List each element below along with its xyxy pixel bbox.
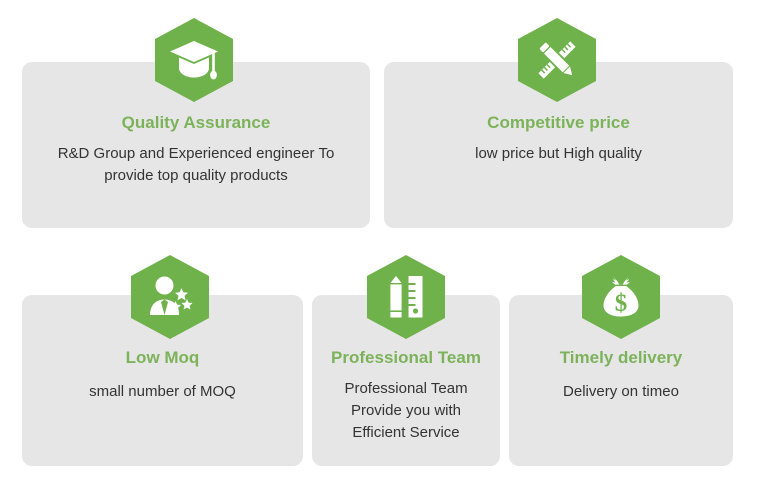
card-title: Professional Team	[312, 348, 500, 368]
graduation-cap-icon	[169, 37, 219, 83]
card-description: small number of MOQ	[22, 381, 303, 403]
card-title: Low Moq	[22, 348, 303, 368]
card-title: Quality Assurance	[22, 113, 370, 133]
pencil-ruler-icon	[385, 274, 427, 320]
card-description: R&D Group and Experienced engineer To pr…	[22, 143, 370, 187]
pencil-ruler-crossed-icon	[533, 36, 581, 84]
person-stars-icon	[146, 275, 194, 319]
svg-text:$: $	[615, 290, 628, 317]
card-description: Delivery on timeo	[509, 381, 733, 403]
card-title: Competitive price	[384, 113, 733, 133]
card-description: Professional Team Provide you with Effic…	[312, 378, 500, 444]
money-bag-icon: $	[598, 274, 644, 320]
card-description: low price but High quality	[384, 143, 733, 165]
card-title: Timely delivery	[509, 348, 733, 368]
feature-cards-board: Quality Assurance R&D Group and Experien…	[0, 0, 758, 496]
